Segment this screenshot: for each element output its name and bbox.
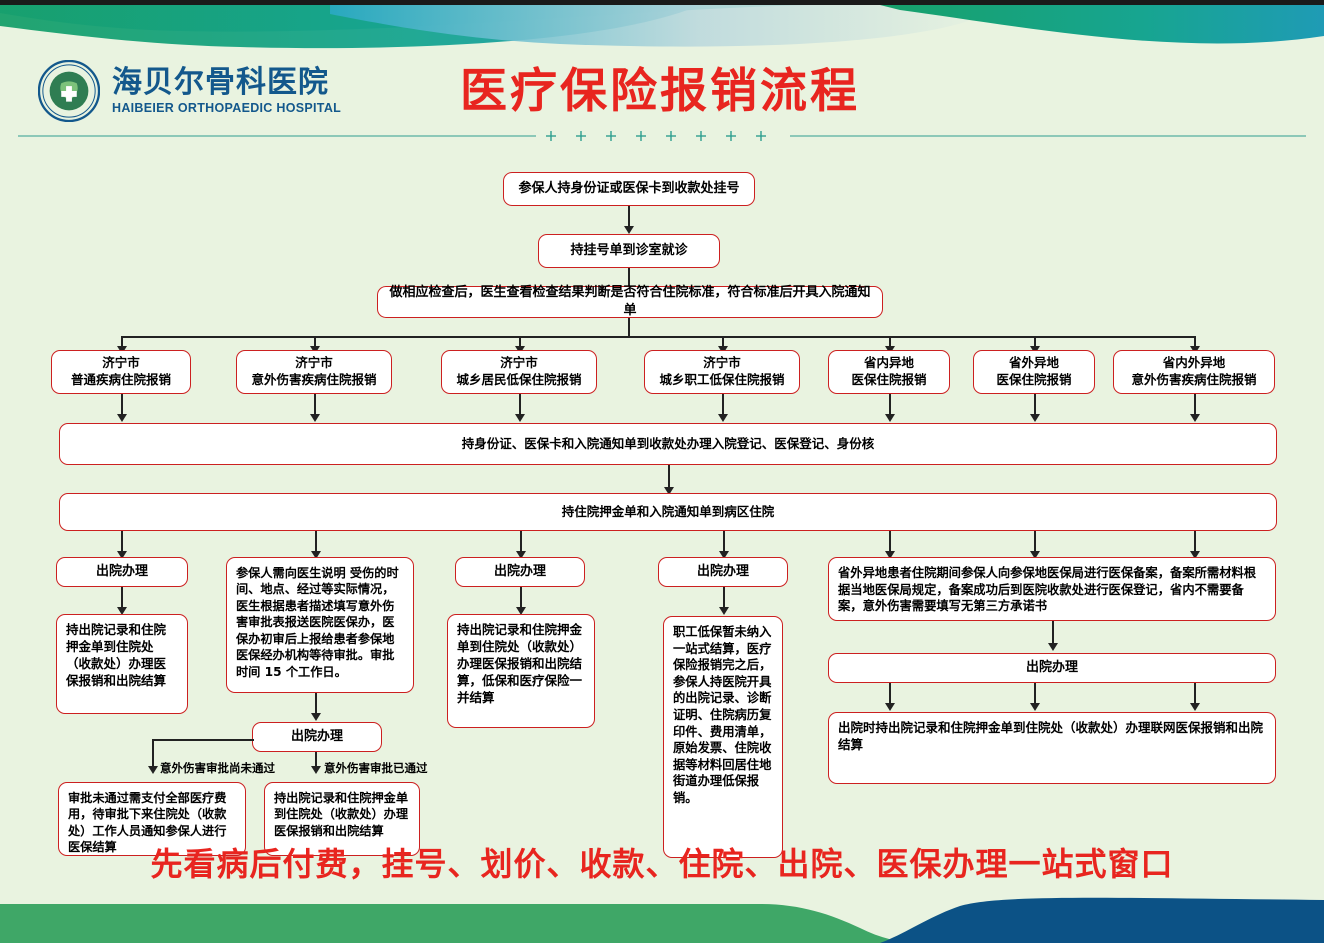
branch-4-line2: 城乡职工低保住院报销 bbox=[659, 372, 784, 389]
branch-6-line1: 省外异地 bbox=[1009, 355, 1059, 372]
col4-detail-box[interactable]: 职工低保暂未纳入一站式结算，医疗保险报销完之后，参保人持医院开具的出院记录、诊断… bbox=[663, 616, 783, 858]
col1-detail-box[interactable]: 持出院记录和住院押金单到住院处（收款处）办理医保报销和出院结算 bbox=[56, 614, 188, 714]
branch-box-4[interactable]: 济宁市 城乡职工低保住院报销 bbox=[644, 350, 800, 394]
branch-5-line2: 医保住院报销 bbox=[851, 372, 926, 389]
col5-arrow-b bbox=[1030, 703, 1040, 711]
branch-box-7[interactable]: 省内外异地 意外伤害疾病住院报销 bbox=[1113, 350, 1275, 394]
arrow-b4-wide1 bbox=[718, 414, 728, 422]
col5-discharge-box[interactable]: 出院办理 bbox=[828, 653, 1276, 683]
col5-filing-box[interactable]: 省外异地患者住院期间参保人向参保地医保局进行医保备案，备案所需材料根据当地医保局… bbox=[828, 557, 1276, 621]
arrow-b1-wide1 bbox=[117, 414, 127, 422]
title-divider-rule bbox=[0, 130, 1324, 142]
branch-box-5[interactable]: 省内异地 医保住院报销 bbox=[828, 350, 950, 394]
branch-box-3[interactable]: 济宁市 城乡居民低保住院报销 bbox=[441, 350, 597, 394]
hospital-logo: 海贝尔骨科医院 HAIBEIER ORTHOPAEDIC HOSPITAL bbox=[38, 60, 341, 122]
flow-step-1[interactable]: 参保人持身份证或医保卡到收款处挂号 bbox=[503, 172, 755, 206]
col5-arrow-c bbox=[1190, 703, 1200, 711]
col2-left-arrow bbox=[148, 766, 158, 774]
branch-5-line1: 省内异地 bbox=[864, 355, 914, 372]
col5-arrow-a bbox=[885, 703, 895, 711]
branch-1-line1: 济宁市 bbox=[102, 355, 140, 372]
hospital-name-cn: 海贝尔骨科医院 bbox=[112, 67, 341, 99]
col4-discharge-box[interactable]: 出院办理 bbox=[658, 557, 788, 587]
page-title: 医疗保险报销流程 bbox=[420, 52, 900, 121]
branch-7-line1: 省内外异地 bbox=[1163, 355, 1226, 372]
branch-3-line2: 城乡居民低保住院报销 bbox=[456, 372, 581, 389]
arrow-b2-wide1 bbox=[310, 414, 320, 422]
col3-detail-box[interactable]: 持出院记录和住院押金单到住院处（收款处）办理医保报销和出院结算，低保和医疗保险一… bbox=[447, 614, 595, 728]
arrow-b7-wide1 bbox=[1190, 414, 1200, 422]
branch-6-line2: 医保住院报销 bbox=[996, 372, 1071, 389]
branch-2-line2: 意外伤害疾病住院报销 bbox=[251, 372, 376, 389]
col2-explain-box[interactable]: 参保人需向医生说明 受伤的时间、地点、经过等实际情况，医生根据患者描述填写意外伤… bbox=[226, 557, 414, 693]
flow-wide-bar-1[interactable]: 持身份证、医保卡和入院通知单到收款处办理入院登记、医保登记、身份核 bbox=[59, 423, 1277, 465]
col2-label-approved: 意外伤害审批已通过 bbox=[324, 760, 428, 776]
poster-canvas: 海贝尔骨科医院 HAIBEIER ORTHOPAEDIC HOSPITAL 医疗… bbox=[0, 0, 1324, 943]
flow-step-3[interactable]: 做相应检查后，医生查看检查结果判断是否符合住院标准，符合标准后开具入院通知单 bbox=[377, 286, 883, 318]
branch-3-line1: 济宁市 bbox=[500, 355, 538, 372]
branch-1-line2: 普通疾病住院报销 bbox=[71, 372, 171, 389]
hospital-seal-icon bbox=[38, 60, 100, 122]
arrow-col5-discharge bbox=[1048, 643, 1058, 651]
branch-box-2[interactable]: 济宁市 意外伤害疾病住院报销 bbox=[236, 350, 392, 394]
col5-detail-box[interactable]: 出院时持出院记录和住院押金单到住院处（收款处）办理联网医保报销和出院结算 bbox=[828, 712, 1276, 784]
arrow-b6-wide1 bbox=[1030, 414, 1040, 422]
connector-step3-bus bbox=[628, 318, 630, 336]
col1-discharge-box[interactable]: 出院办理 bbox=[56, 557, 188, 587]
flow-step-2[interactable]: 持挂号单到诊室就诊 bbox=[538, 234, 720, 268]
logo-text-block: 海贝尔骨科医院 HAIBEIER ORTHOPAEDIC HOSPITAL bbox=[112, 67, 341, 115]
arrow-b5-wide1 bbox=[885, 414, 895, 422]
branch-box-6[interactable]: 省外异地 医保住院报销 bbox=[973, 350, 1095, 394]
col2-label-not-approved: 意外伤害审批尚未通过 bbox=[160, 760, 275, 776]
flow-wide-bar-2[interactable]: 持住院押金单和入院通知单到病区住院 bbox=[59, 493, 1277, 531]
arrow-b3-wide1 bbox=[515, 414, 525, 422]
branch-4-line1: 济宁市 bbox=[703, 355, 741, 372]
header-wave-decoration bbox=[0, 0, 1324, 58]
col2-discharge-box[interactable]: 出院办理 bbox=[252, 722, 382, 752]
footer-wave-decoration bbox=[0, 888, 1324, 943]
branch-7-line2: 意外伤害疾病住院报销 bbox=[1131, 372, 1256, 389]
branch-2-line1: 济宁市 bbox=[295, 355, 333, 372]
arrow-step1-step2 bbox=[624, 226, 634, 234]
col2-right-arrow bbox=[311, 766, 321, 774]
col2-split-bus bbox=[152, 739, 254, 741]
hospital-name-en: HAIBEIER ORTHOPAEDIC HOSPITAL bbox=[112, 101, 341, 115]
footer-slogan: 先看病后付费，挂号、划价、收款、住院、出院、医保办理一站式窗口 bbox=[0, 839, 1324, 885]
top-dark-bar bbox=[0, 0, 1324, 5]
col3-discharge-box[interactable]: 出院办理 bbox=[455, 557, 585, 587]
branch-box-1[interactable]: 济宁市 普通疾病住院报销 bbox=[51, 350, 191, 394]
arrow-col2-discharge bbox=[311, 713, 321, 721]
arrow-col4-detail bbox=[719, 607, 729, 615]
